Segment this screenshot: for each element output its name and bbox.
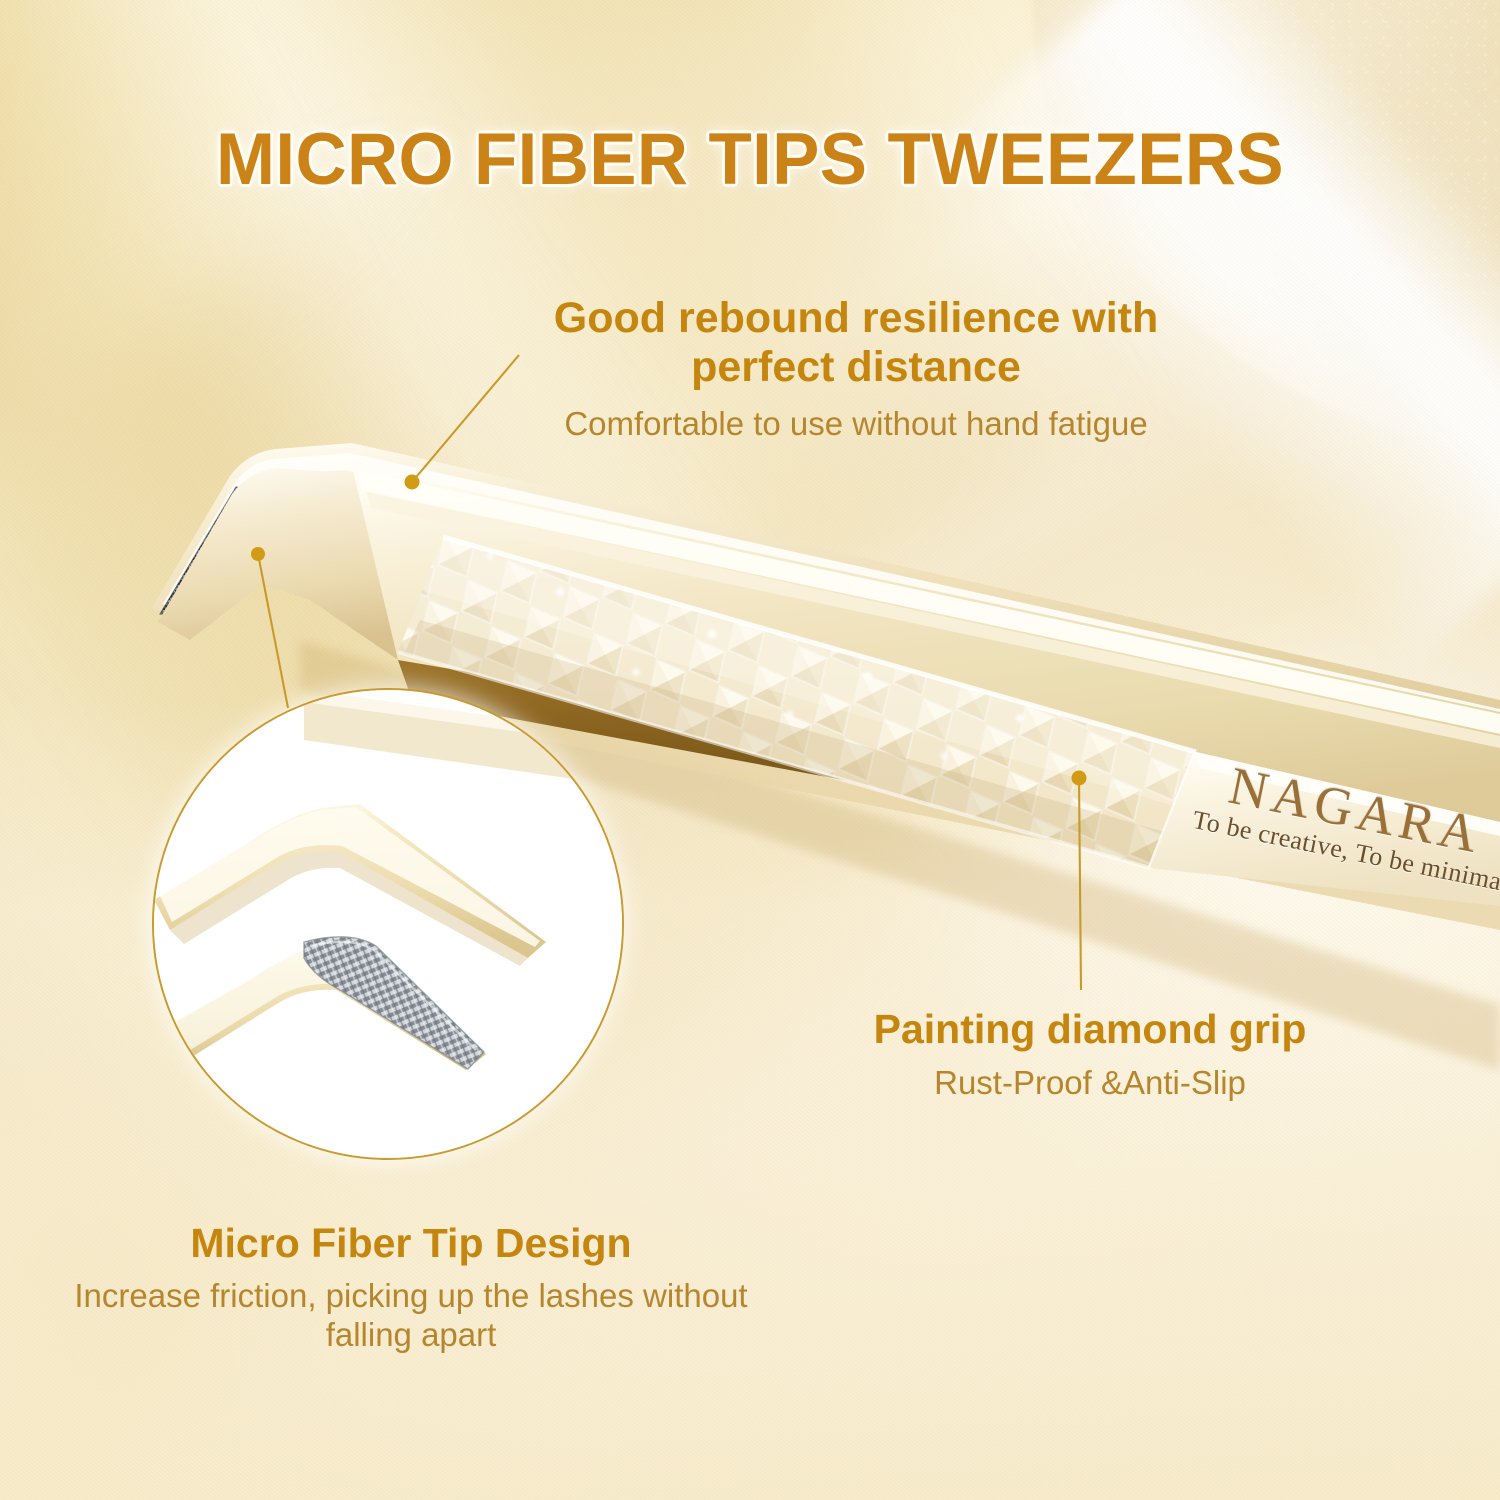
magnifier-contents: [154, 690, 622, 1158]
callout-rebound: Good rebound resilience with perfect dis…: [498, 294, 1214, 444]
callout-grip-heading: Painting diamond grip: [820, 1006, 1360, 1053]
callout-grip-sub: Rust-Proof &Anti-Slip: [820, 1064, 1360, 1103]
magnified-tweezer-tips: [154, 690, 622, 1158]
callout-tip-sub: Increase friction, picking up the lashes…: [68, 1277, 754, 1355]
magnified-tip-inset: [152, 688, 624, 1160]
product-infographic: NAGARA To be creative, To be minimalist,…: [0, 0, 1500, 1500]
callout-micro-fiber-tip: Micro Fiber Tip Design Increase friction…: [68, 1220, 754, 1355]
page-title: MICRO FIBER TIPS TWEEZERS: [23, 118, 1478, 201]
callout-diamond-grip: Painting diamond grip Rust-Proof &Anti-S…: [820, 1006, 1360, 1103]
callout-rebound-heading: Good rebound resilience with perfect dis…: [498, 294, 1214, 392]
callout-rebound-sub: Comfortable to use without hand fatigue: [498, 405, 1214, 444]
callout-tip-heading: Micro Fiber Tip Design: [68, 1220, 754, 1267]
